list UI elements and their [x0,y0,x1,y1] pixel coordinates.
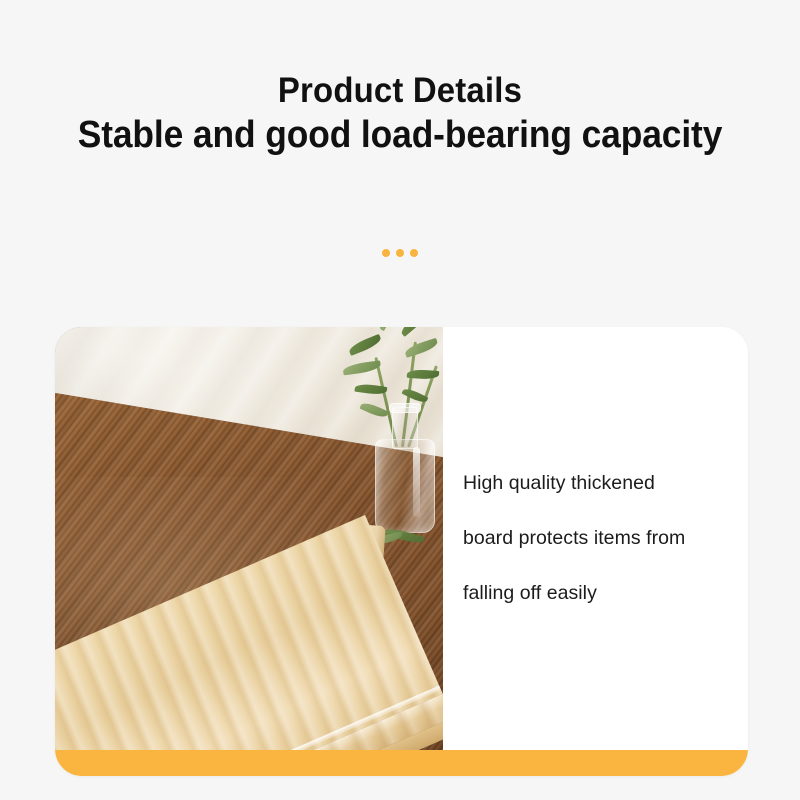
divider-dot-icon [382,249,390,257]
card-body: High quality thickened board protects it… [55,327,748,750]
product-caption-panel: High quality thickened board protects it… [443,327,748,750]
photo-bottle-lip [389,403,421,413]
photo-bottle-body [375,439,435,533]
photo-bottle-highlight [413,447,420,517]
page-title: Product Details Stable and good load-bea… [0,70,800,158]
photo-glass-bottle [373,399,435,531]
photo-bottle-neck [392,407,418,449]
three-dots-divider [0,249,800,257]
divider-dot-icon [396,249,404,257]
product-detail-card: High quality thickened board protects it… [55,327,748,776]
caption-line: board protects items from [463,511,748,566]
divider-dot-icon [410,249,418,257]
page-title-line-2: Stable and good load-bearing capacity [28,112,772,158]
page-title-line-1: Product Details [24,70,776,112]
caption-line: falling off easily [463,566,748,621]
card-accent-footer-bar [55,750,748,776]
product-photo-wooden-shelf-riser [55,327,443,750]
caption-line: High quality thickened [463,456,748,511]
